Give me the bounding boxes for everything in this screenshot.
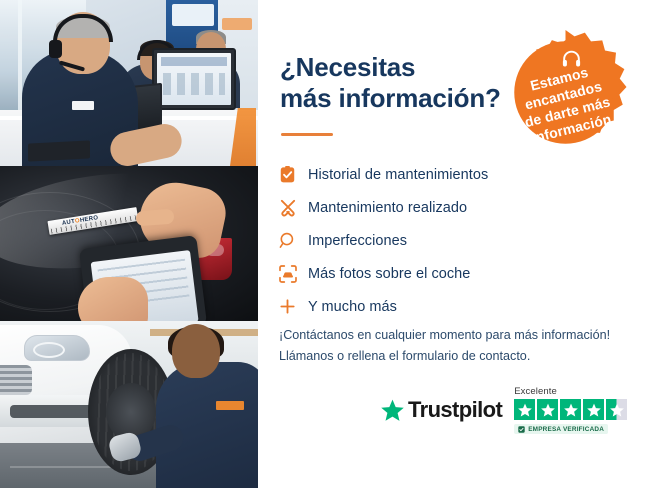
star-3	[560, 399, 581, 420]
agent-one-name-badge	[72, 101, 94, 110]
car-viewfinder-icon	[278, 262, 308, 286]
verified-business-badge: EMPRESA VERIFICADA	[514, 424, 608, 434]
title-divider	[281, 133, 333, 136]
feature-label: Y mucho más	[308, 299, 397, 315]
title-line-one: ¿Necesitas	[280, 52, 530, 83]
feature-label: Mantenimiento realizado	[308, 200, 467, 216]
content-panel: ¿Necesitas más información? Estamos enca…	[258, 0, 650, 488]
star-1	[514, 399, 535, 420]
mechanic-sleeve-logo	[216, 401, 244, 410]
trustpilot-logo: Trustpilot	[380, 397, 502, 423]
feature-item-maintenance-done: Mantenimiento realizado	[278, 191, 618, 224]
desk-tablet	[28, 140, 90, 161]
trustpilot-star-icon	[380, 398, 405, 423]
desktop-monitor	[152, 48, 236, 110]
mechanic-head	[172, 324, 220, 378]
star-2	[537, 399, 558, 420]
rating-label: Excelente	[514, 386, 627, 397]
feature-label: Imperfecciones	[308, 233, 407, 249]
trustpilot-widget[interactable]: Trustpilot Excelente	[380, 386, 627, 434]
trustpilot-wordmark: Trustpilot	[408, 397, 502, 423]
car-headlight	[24, 335, 90, 361]
star-4	[583, 399, 604, 420]
feature-item-imperfections: Imperfecciones	[278, 224, 618, 257]
feature-item-much-more: Y mucho más	[278, 290, 618, 323]
verified-check-icon	[518, 426, 525, 433]
contact-paragraph: ¡Contáctanos en cualquier momento para m…	[279, 325, 639, 367]
page-title: ¿Necesitas más información?	[280, 52, 530, 113]
photo-collage: AUTOHERO	[0, 0, 258, 488]
verified-label: EMPRESA VERIFICADA	[528, 426, 604, 433]
crossed-tools-icon	[278, 196, 308, 220]
star-5-partial	[606, 399, 627, 420]
feature-item-more-photos: Más fotos sobre el coche	[278, 257, 618, 290]
call-center-agents-photo	[0, 0, 258, 166]
mechanic-wheel-photo	[0, 321, 258, 488]
vehicle-inspection-photo: AUTOHERO	[0, 166, 258, 321]
feature-label: Historial de mantenimientos	[308, 167, 488, 183]
feature-label: Más fotos sobre el coche	[308, 266, 470, 282]
inspector-hand-holding-tablet	[78, 277, 148, 321]
shelf-items	[222, 18, 252, 30]
clipboard-check-icon	[278, 163, 308, 187]
monitor-screen	[157, 53, 231, 105]
bumper-air-vent	[10, 405, 96, 418]
star-rating	[514, 399, 627, 420]
magnifier-icon	[278, 229, 308, 253]
feature-item-maintenance-history: Historial de mantenimientos	[278, 158, 618, 191]
plus-icon	[278, 295, 308, 319]
feature-list: Historial de mantenimientos Mantenimient…	[278, 158, 618, 323]
car-grille	[0, 365, 32, 395]
agent-one-headset-cup	[49, 40, 62, 58]
promo-card: AUTOHERO	[0, 0, 650, 488]
inspector-finger	[136, 209, 175, 227]
title-line-two: más información?	[280, 83, 530, 114]
support-badge: Estamos encantados de darte más informac…	[503, 30, 628, 155]
paragraph-line-one: ¡Contáctanos en cualquier momento para m…	[279, 325, 639, 346]
paragraph-line-two: Llámanos o rellena el formulario de cont…	[279, 346, 639, 367]
wall-poster	[172, 4, 214, 26]
trustpilot-rating-block: Excelente	[514, 386, 627, 434]
